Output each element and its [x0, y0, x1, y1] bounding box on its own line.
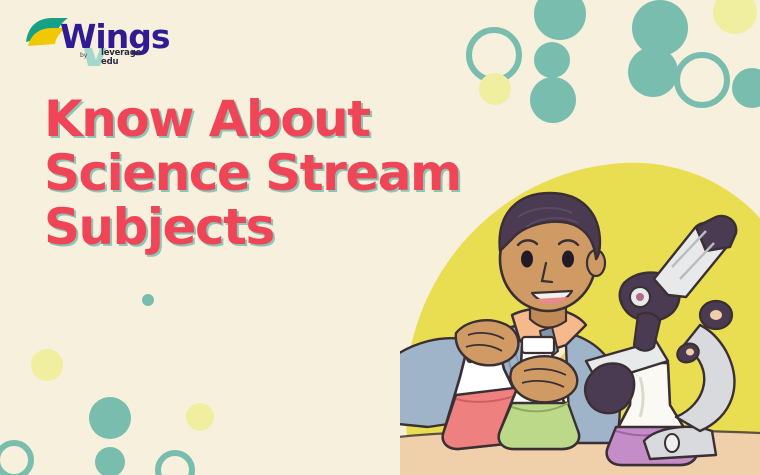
poster-canvas: Wings by leverage edu Know About Science…	[0, 0, 760, 475]
decor-circle	[479, 73, 511, 105]
decor-circle	[95, 447, 125, 475]
logo-brand-line-2: edu	[101, 57, 118, 67]
decor-circle	[0, 440, 34, 475]
decor-circle	[534, 0, 586, 40]
wings-logo[interactable]: Wings by leverage edu	[22, 8, 167, 70]
decor-circle	[466, 27, 522, 83]
decor-circle	[628, 47, 678, 97]
decor-circle	[534, 42, 570, 78]
decor-circle	[674, 52, 730, 108]
decor-circle	[713, 0, 757, 34]
decor-circle	[530, 77, 576, 123]
decor-circle	[31, 349, 63, 381]
decor-circle	[632, 0, 688, 56]
decor-circle	[142, 294, 154, 306]
logo-by-label: by	[80, 52, 87, 59]
title-line-1: Know About	[44, 92, 474, 146]
science-student-illustration	[400, 155, 760, 475]
decor-circle	[89, 397, 131, 439]
logo-brand-name: leverage edu	[101, 49, 141, 67]
decor-circle	[732, 68, 760, 108]
decor-circle	[155, 450, 195, 475]
decor-circle	[186, 403, 214, 431]
